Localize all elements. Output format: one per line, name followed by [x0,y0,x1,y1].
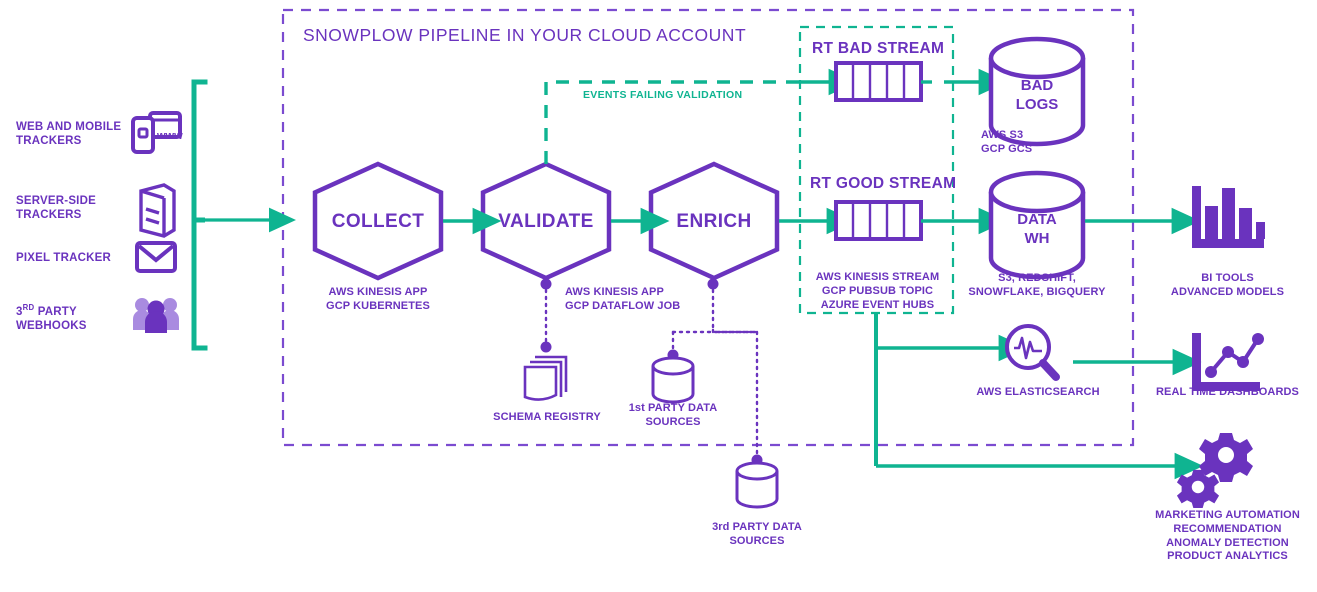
data-wh-sub-line1: S3, REDSHIFT, [998,272,1076,284]
first-party-cylinder-icon [653,358,693,402]
elasticsearch-label: AWS ELASTICSEARCH [968,386,1108,400]
first-party-label-line1: 1st PARTY DATA [629,402,718,414]
output-label-bi-tools: BI TOOLS ADVANCED MODELS [1150,272,1305,300]
stage-sub-collect-line1: AWS KINESIS APP [329,286,428,298]
first-party-label: 1st PARTY DATA SOURCES [613,402,733,430]
diagram-canvas: www [0,0,1317,592]
rt-good-stream-sub-line2: GCP PUBSUB TOPIC [822,285,933,297]
rt-bad-stream-title: RT BAD STREAM [812,39,944,58]
bad-logs-sub-line1: AWS S3 [981,129,1023,141]
bad-logs-sub-line2: GCP GCS [981,143,1032,155]
output-label-marketing-line1: MARKETING AUTOMATION [1155,509,1300,521]
bad-logs-label-line2: LOGS [1016,96,1059,113]
source-label-webhooks: 3RD PARTY WEBHOOKS [16,303,87,334]
output-label-marketing-line3: ANOMALY DETECTION [1166,537,1289,549]
source-label-server-side-line1: SERVER-SIDE [16,195,96,207]
data-wh-sub-line2: SNOWFLAKE, BIGQUERY [968,286,1105,298]
line-chart-icon [1192,333,1264,391]
good-stream-queue-icon [836,202,921,239]
bar-chart-icon [1192,186,1265,248]
data-wh-sub: S3, REDSHIFT, SNOWFLAKE, BIGQUERY [962,272,1112,300]
stage-sub-collect-line2: GCP KUBERNETES [326,300,430,312]
gears-icon [1177,433,1253,508]
rt-good-stream-title: RT GOOD STREAM [810,174,956,193]
bad-logs-label: BAD LOGS [991,77,1083,115]
source-label-web-mobile-line1: WEB AND MOBILE [16,121,121,133]
bad-logs-sub: AWS S3 GCP GCS [981,129,1093,157]
third-party-label-line1: 3rd PARTY DATA [712,521,802,533]
third-party-label: 3rd PARTY DATA SOURCES [697,521,817,549]
source-label-web-mobile: WEB AND MOBILE TRACKERS [16,120,121,149]
stage-sub-validate: AWS KINESIS APP GCP DATAFLOW JOB [565,286,715,314]
connector-validate-to-schema-registry [541,279,552,353]
svg-text:www: www [156,130,183,142]
source-label-server-side: SERVER-SIDE TRACKERS [16,194,96,223]
third-party-label-line2: SOURCES [729,535,784,547]
stage-sub-collect: AWS KINESIS APP GCP KUBERNETES [313,286,443,314]
bad-logs-label-line1: BAD [1021,77,1054,94]
data-wh-label-line2: WH [1025,230,1050,247]
bad-stream-queue-icon [836,63,921,100]
output-label-bi-tools-line2: ADVANCED MODELS [1171,286,1284,298]
mobile-and-browser-icon: www [133,113,183,152]
output-label-dashboards: REAL TIME DASHBOARDS [1145,386,1310,400]
source-label-pixel-tracker: PIXEL TRACKER [16,251,111,265]
first-party-label-line2: SOURCES [645,416,700,428]
schema-registry-label: SCHEMA REGISTRY [487,411,607,425]
schema-registry-icon [525,357,566,400]
stage-label-collect: COLLECT [315,210,441,234]
output-label-bi-tools-line1: BI TOOLS [1201,272,1254,284]
page-title: SNOWPLOW PIPELINE IN YOUR CLOUD ACCOUNT [303,25,746,47]
stage-sub-validate-line1: AWS KINESIS APP [565,286,664,298]
stage-label-enrich: ENRICH [651,210,777,234]
output-label-marketing-line4: PRODUCT ANALYTICS [1167,550,1288,562]
rt-good-stream-sub-line1: AWS KINESIS STREAM [816,271,939,283]
source-label-web-mobile-line2: TRACKERS [16,135,82,147]
sources-bracket [194,82,205,348]
magnifier-pulse-icon [1007,326,1056,377]
source-label-webhooks-line2: WEBHOOKS [16,320,87,332]
source-label-server-side-line2: TRACKERS [16,209,82,221]
third-party-cylinder-icon [737,463,777,507]
events-failing-validation-label: EVENTS FAILING VALIDATION [583,89,742,102]
server-icon [141,185,174,236]
stage-label-validate: VALIDATE [483,210,609,234]
envelope-icon [137,243,175,271]
stage-sub-validate-line2: GCP DATAFLOW JOB [565,300,680,312]
data-wh-label-line1: DATA [1017,211,1056,228]
output-label-marketing: MARKETING AUTOMATION RECOMMENDATION ANOM… [1140,509,1315,564]
rt-good-stream-sub-line3: AZURE EVENT HUBS [821,299,934,311]
output-label-marketing-line2: RECOMMENDATION [1173,523,1281,535]
people-group-icon [133,298,179,333]
source-label-pixel-tracker-line1: PIXEL TRACKER [16,252,111,264]
source-label-webhooks-line1: 3RD PARTY [16,306,77,318]
output-label-dashboards-line1: REAL TIME DASHBOARDS [1156,386,1299,398]
data-wh-label: DATA WH [991,211,1083,249]
rt-good-stream-sub: AWS KINESIS STREAM GCP PUBSUB TOPIC AZUR… [805,271,950,312]
